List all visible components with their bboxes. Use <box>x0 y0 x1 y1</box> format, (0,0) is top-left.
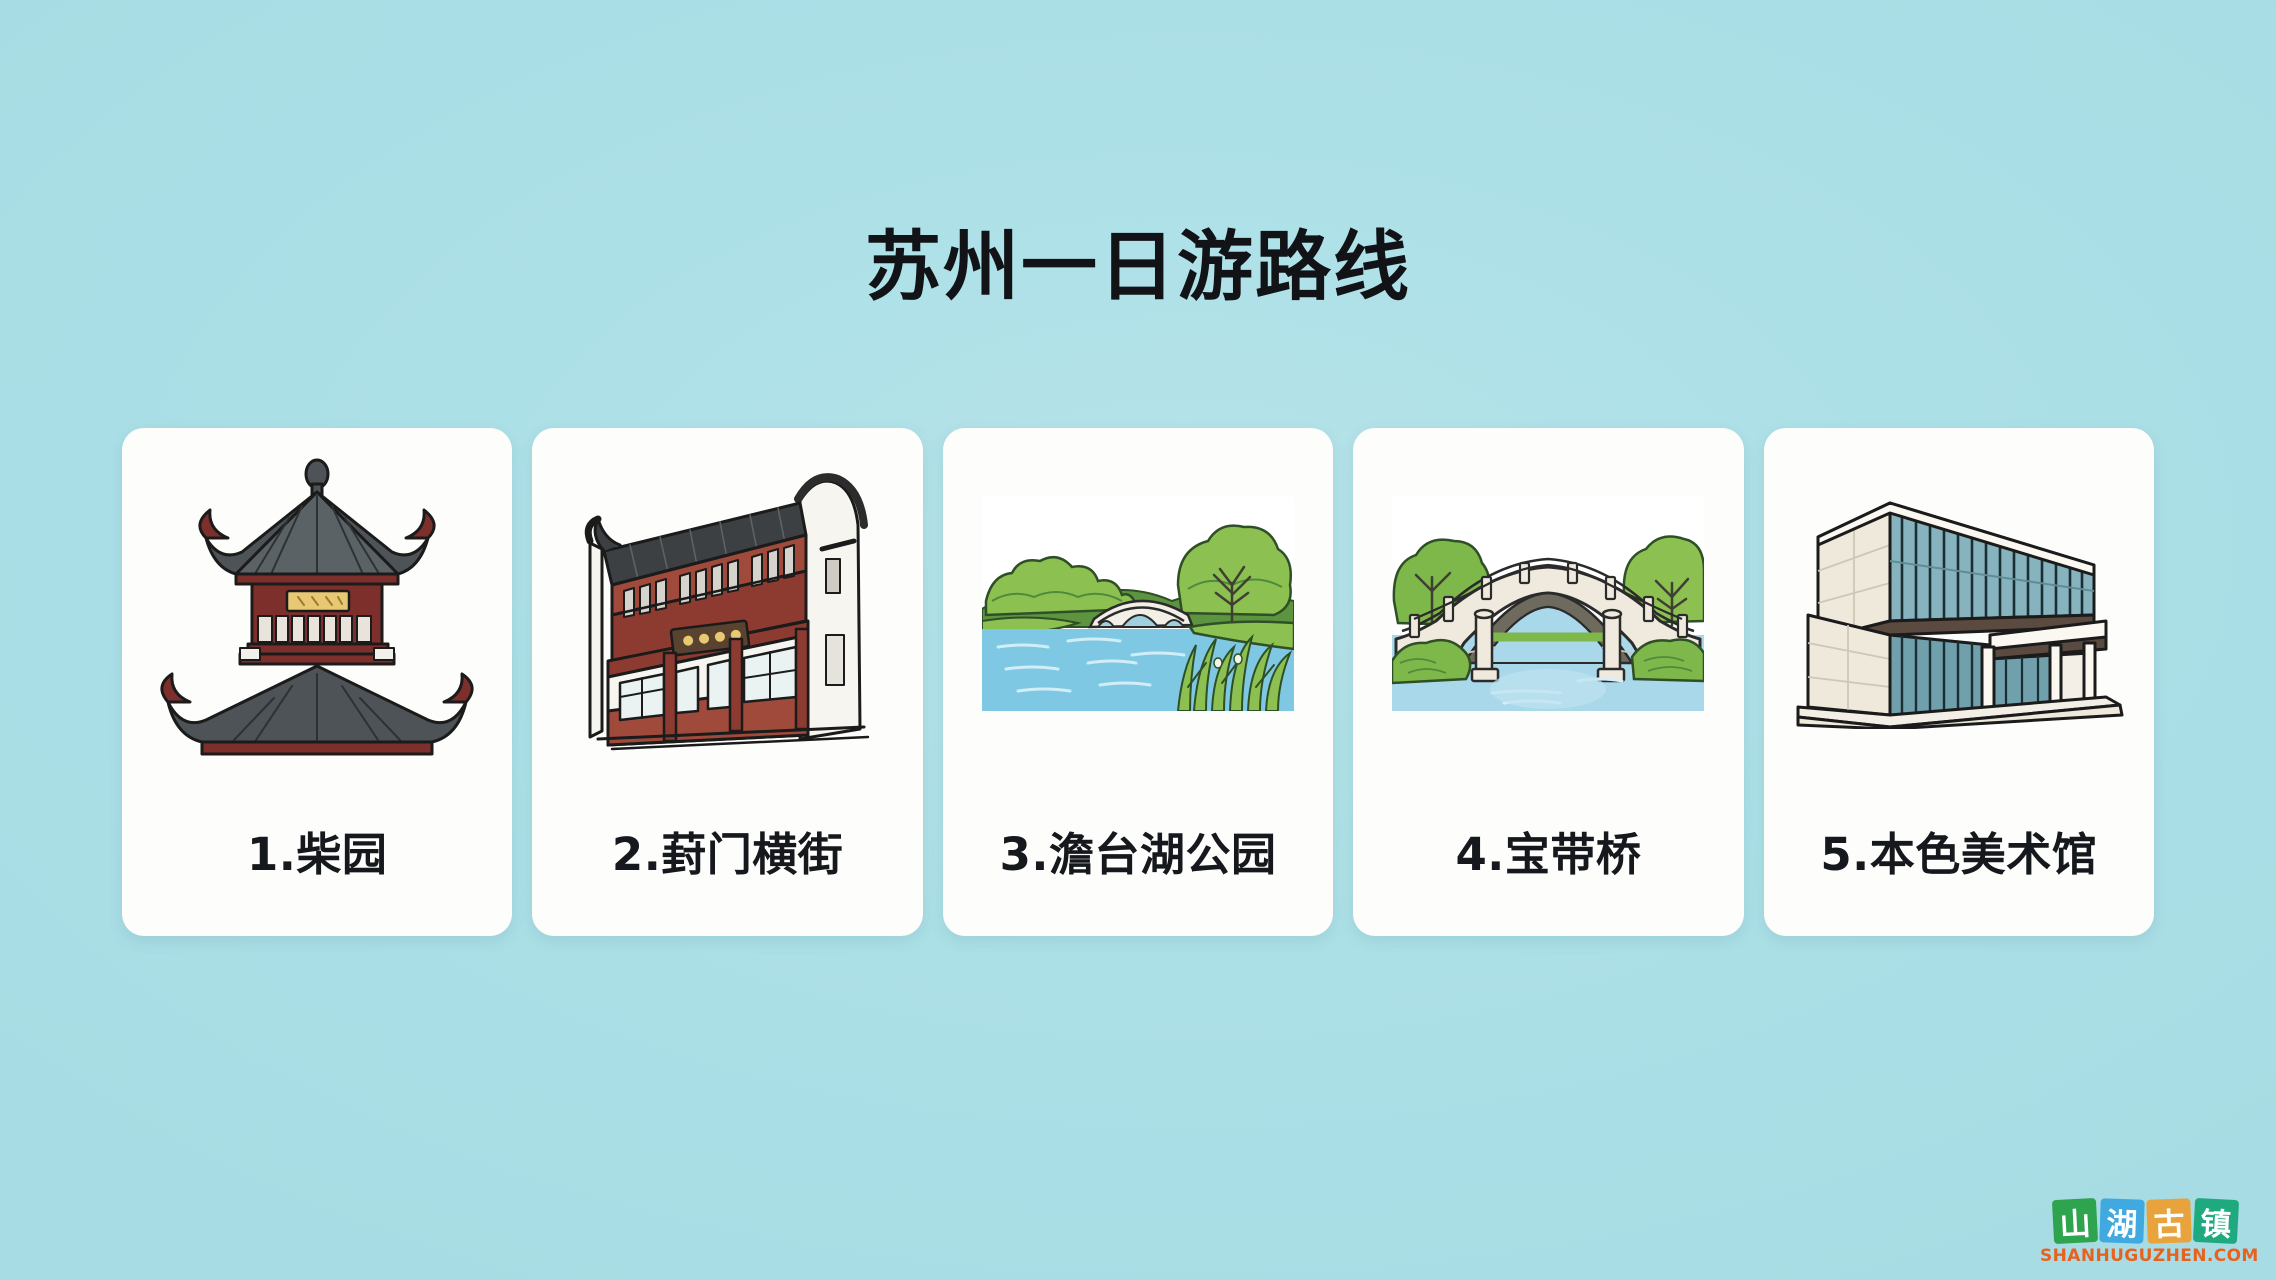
route-card-1[interactable]: 1.柴园 <box>122 428 512 936</box>
watermark-tile-4: 镇 <box>2192 1198 2238 1244</box>
card-illustration-2 <box>532 428 922 780</box>
route-card-5[interactable]: 5.本色美术馆 <box>1764 428 2154 936</box>
route-card-3[interactable]: 3.澹台湖公园 <box>943 428 1333 936</box>
route-card-row: 1.柴园 <box>122 428 2154 936</box>
card-illustration-4 <box>1353 428 1743 780</box>
site-watermark: 山 湖 古 镇 SHANHUGUZHEN.COM <box>2040 1199 2250 1266</box>
page-title-container: 苏州一日游路线 <box>0 178 2276 356</box>
page-title: 苏州一日游路线 <box>865 229 1411 305</box>
watermark-tile-1: 山 <box>2051 1198 2097 1244</box>
card-label-3: 3.澹台湖公园 <box>943 780 1333 936</box>
watermark-tile-3: 古 <box>2146 1198 2192 1244</box>
card-label-5: 5.本色美术馆 <box>1764 780 2154 936</box>
chinese-pagoda-gate-icon <box>152 434 482 774</box>
card-label-4: 4.宝带桥 <box>1353 780 1743 936</box>
poster-root: 苏州一日游路线 <box>0 0 2276 1280</box>
card-label-1: 1.柴园 <box>122 780 512 936</box>
watermark-tile-2: 湖 <box>2099 1198 2145 1244</box>
card-illustration-1 <box>122 428 512 780</box>
watermark-tiles: 山 湖 古 镇 <box>2040 1199 2250 1243</box>
watermark-url: SHANHUGUZHEN.COM <box>2040 1246 2250 1266</box>
stone-arch-bridge-icon <box>1392 497 1704 711</box>
card-label-2: 2.葑门横街 <box>532 780 922 936</box>
lake-park-with-bridge-icon <box>982 497 1294 711</box>
card-illustration-3 <box>943 428 1333 780</box>
jiangnan-shophouse-icon <box>568 439 888 769</box>
route-card-4[interactable]: 4.宝带桥 <box>1353 428 1743 936</box>
modern-art-museum-icon <box>1794 479 2124 729</box>
route-card-2[interactable]: 2.葑门横街 <box>532 428 922 936</box>
card-illustration-5 <box>1764 428 2154 780</box>
